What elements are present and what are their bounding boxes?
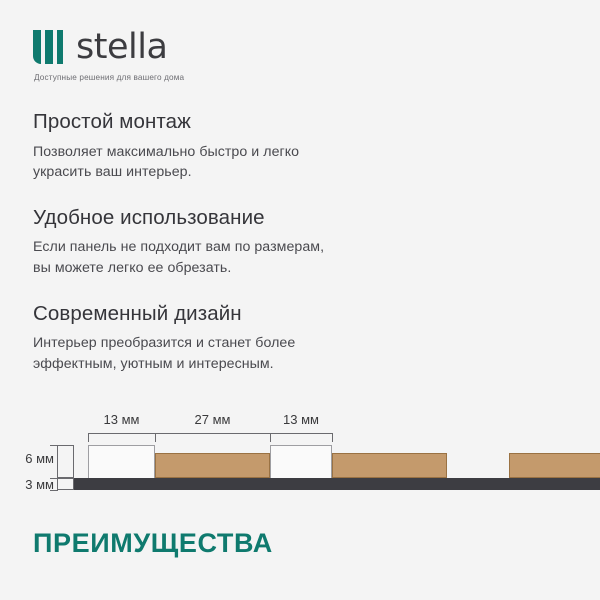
brand-logo-block: stella Доступные решения для вашего дома	[33, 28, 353, 82]
feature-body: Если панель не подходит вам по размерам,…	[33, 237, 453, 278]
logo-tagline: Доступные решения для вашего дома	[34, 73, 353, 82]
panel-gap	[270, 445, 332, 478]
feature-item-usage: Удобное использование Если панель не под…	[33, 205, 453, 279]
dimension-bracket	[50, 490, 58, 491]
feature-title: Простой монтаж	[33, 109, 453, 135]
feature-title: Современный дизайн	[33, 301, 453, 327]
page-title: ПРЕИМУЩЕСТВА	[33, 528, 273, 559]
feature-list: Простой монтаж Позволяет максимально быс…	[33, 109, 453, 396]
feature-body: Интерьер преобразится и станет более эфф…	[33, 333, 453, 374]
panel-cross-section-diagram: 13 мм 27 мм 13 мм 6 мм 3 мм	[0, 412, 600, 504]
panel-slat	[155, 453, 270, 478]
feature-item-design: Современный дизайн Интерьер преобразится…	[33, 301, 453, 375]
panel-slat	[509, 453, 600, 478]
horizontal-dimension-line	[88, 433, 332, 434]
dimension-tick	[332, 433, 333, 442]
dimension-box-3mm	[57, 478, 74, 490]
panel-gap	[88, 445, 155, 478]
logo-bar-1	[33, 30, 41, 64]
dimension-label-horizontal: 13 мм	[270, 412, 332, 427]
feature-title: Удобное использование	[33, 205, 453, 231]
logo-row: stella	[33, 28, 353, 66]
logo-bar-2	[45, 30, 53, 64]
feature-item-installation: Простой монтаж Позволяет максимально быс…	[33, 109, 453, 183]
logo-wordmark: stella	[76, 30, 167, 65]
three-bars-logo-icon	[33, 30, 67, 64]
dimension-tick	[88, 433, 89, 442]
dimension-tick	[270, 433, 271, 442]
dimension-tick	[155, 433, 156, 442]
panel-profile	[74, 445, 600, 490]
logo-bar-3	[57, 30, 63, 64]
dimension-label-horizontal: 13 мм	[88, 412, 155, 427]
horizontal-dimension-labels: 13 мм 27 мм 13 мм	[0, 412, 600, 432]
feature-body: Позволяет максимально быстро и легко укр…	[33, 142, 453, 183]
panel-slat	[332, 453, 447, 478]
dimension-box-6mm	[57, 445, 74, 478]
dimension-label-horizontal: 27 мм	[155, 412, 270, 427]
panel-base-layer	[74, 478, 600, 490]
dimension-label-vertical: 6 мм	[25, 451, 54, 466]
